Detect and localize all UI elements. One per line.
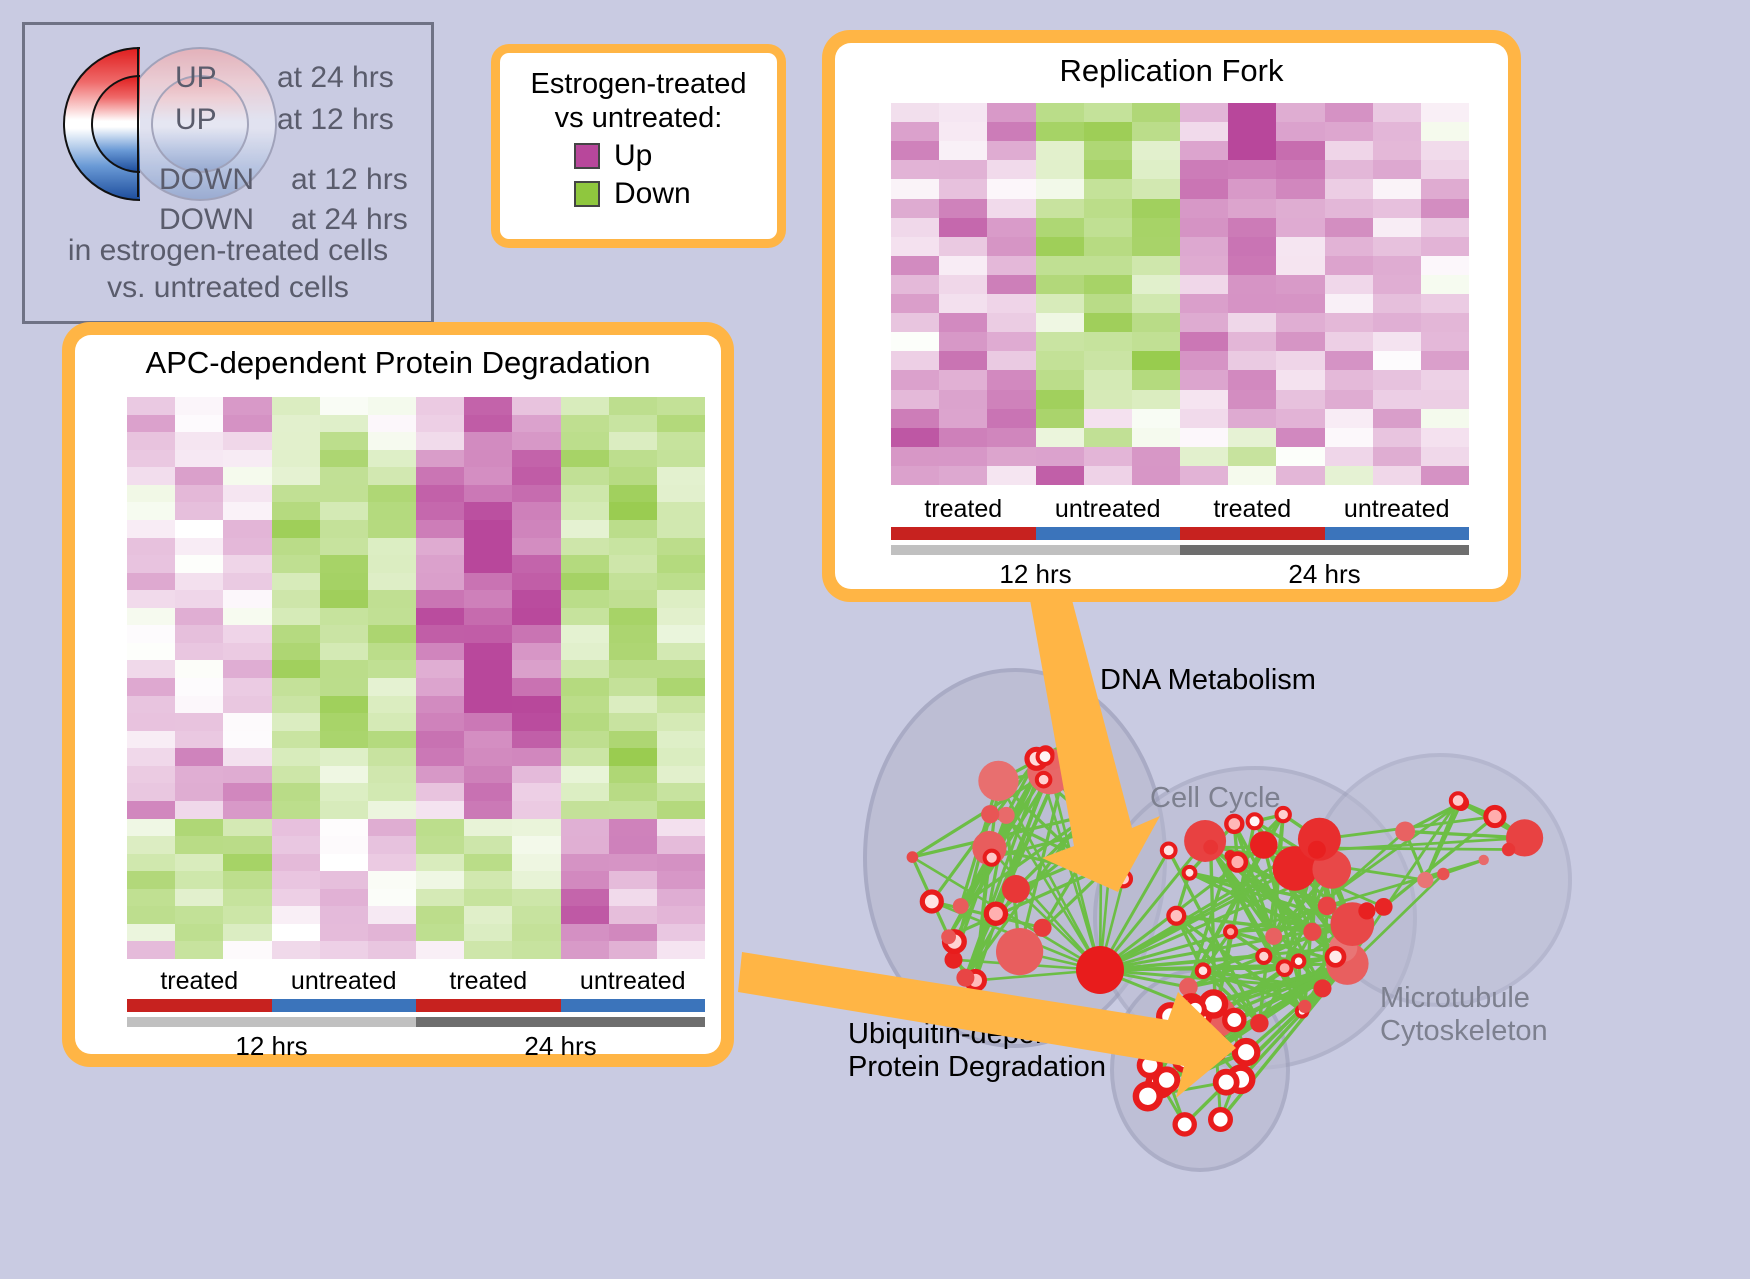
heatmap-cell bbox=[175, 415, 223, 433]
heatmap-cell bbox=[987, 256, 1035, 275]
network-node bbox=[1136, 1084, 1160, 1108]
heatmap-cell bbox=[320, 415, 368, 433]
heatmap-replication-fork bbox=[891, 103, 1469, 485]
cluster-label-dna-metabolism: DNA Metabolism bbox=[1100, 664, 1316, 697]
heatmap-cell bbox=[368, 643, 416, 661]
heatmap-cell bbox=[175, 766, 223, 784]
heatmap-cell bbox=[657, 696, 705, 714]
heatmap-cell bbox=[891, 141, 939, 160]
heatmap-cell bbox=[320, 924, 368, 942]
heatmap-cell bbox=[127, 906, 175, 924]
heatmap-cell bbox=[1228, 447, 1276, 466]
network-node bbox=[941, 929, 956, 944]
heatmap-cell bbox=[320, 819, 368, 837]
heatmap-cell bbox=[223, 643, 271, 661]
heatmap-cell bbox=[272, 573, 320, 591]
heatmap-cell bbox=[223, 502, 271, 520]
timepoint-label: 12 hrs bbox=[127, 1031, 416, 1062]
heatmap-cell bbox=[416, 397, 464, 415]
heatmap-cell bbox=[223, 538, 271, 556]
heatmap-cell bbox=[464, 678, 512, 696]
heatmap-cell bbox=[127, 573, 175, 591]
heatmap-cell bbox=[657, 783, 705, 801]
heatmap-cell bbox=[1421, 351, 1469, 370]
heatmap-cell bbox=[320, 889, 368, 907]
heatmap-cell bbox=[368, 941, 416, 959]
heatmap-cell bbox=[1132, 122, 1180, 141]
heatmap-cell bbox=[1036, 160, 1084, 179]
network-node bbox=[1314, 979, 1332, 997]
heatmap-cell bbox=[272, 924, 320, 942]
heatmap-cell bbox=[1228, 466, 1276, 485]
heatmap-cell bbox=[175, 555, 223, 573]
heatmap-cell bbox=[1180, 313, 1228, 332]
heatmap-cell bbox=[127, 696, 175, 714]
heatmap-cell bbox=[657, 538, 705, 556]
heatmap-cell bbox=[1228, 294, 1276, 313]
network-node bbox=[1175, 1049, 1196, 1070]
heatmap-cell bbox=[561, 783, 609, 801]
key-time-3: at 24 hrs bbox=[291, 203, 408, 237]
heatmap-cell bbox=[1228, 370, 1276, 389]
heatmap-cell bbox=[320, 608, 368, 626]
heatmap-cell bbox=[223, 941, 271, 959]
network-node bbox=[996, 928, 1043, 975]
heatmap-cell bbox=[1325, 466, 1373, 485]
heatmap-cell bbox=[657, 906, 705, 924]
heatmap-cell bbox=[320, 502, 368, 520]
heatmap-cell bbox=[127, 520, 175, 538]
network-node bbox=[1033, 919, 1051, 937]
heatmap-cell bbox=[1036, 275, 1084, 294]
heatmap-cell bbox=[1132, 141, 1180, 160]
heatmap-cell bbox=[175, 906, 223, 924]
heatmap-cell bbox=[368, 696, 416, 714]
heatmap-cell bbox=[1180, 390, 1228, 409]
network-node bbox=[1116, 872, 1131, 887]
heatmap-cell bbox=[891, 409, 939, 428]
heatmap-cell bbox=[223, 590, 271, 608]
heatmap-cell bbox=[657, 502, 705, 520]
heatmap-cell bbox=[464, 485, 512, 503]
heatmap-cell bbox=[368, 924, 416, 942]
heatmap-cell bbox=[1325, 237, 1373, 256]
heatmap-cell bbox=[512, 748, 560, 766]
heatmap-cell bbox=[987, 199, 1035, 218]
timepoint-bar-apc bbox=[127, 1017, 705, 1027]
network-node bbox=[1293, 955, 1305, 967]
heatmap-cell bbox=[609, 660, 657, 678]
heatmap-cell bbox=[320, 801, 368, 819]
heatmap-cell bbox=[1228, 122, 1276, 141]
heatmap-cell bbox=[1373, 275, 1421, 294]
network-node bbox=[1038, 749, 1053, 764]
heatmap-cell bbox=[609, 573, 657, 591]
heatmap-cell bbox=[127, 819, 175, 837]
heatmap-cell bbox=[464, 520, 512, 538]
heatmap-cell bbox=[272, 819, 320, 837]
heatmap-cell bbox=[127, 590, 175, 608]
heatmap-cell bbox=[416, 871, 464, 889]
heatmap-cell bbox=[1373, 256, 1421, 275]
heatmap-cell bbox=[320, 660, 368, 678]
heatmap-cell bbox=[1084, 332, 1132, 351]
network-node bbox=[1250, 1014, 1268, 1032]
network-node bbox=[953, 898, 969, 914]
heatmap-cell bbox=[1228, 275, 1276, 294]
heatmap-cell bbox=[1421, 103, 1469, 122]
heatmap-cell bbox=[1084, 466, 1132, 485]
network-node bbox=[1168, 908, 1184, 924]
heatmap-cell bbox=[1421, 466, 1469, 485]
heatmap-cell bbox=[272, 889, 320, 907]
heatmap-cell bbox=[1228, 160, 1276, 179]
heatmap-cell bbox=[1132, 370, 1180, 389]
heatmap-cell bbox=[1325, 390, 1373, 409]
caption-line-1: in estrogen-treated cells bbox=[25, 233, 431, 270]
legend-item-down: Down bbox=[574, 177, 765, 211]
heatmap-cell bbox=[416, 432, 464, 450]
heatmap-cell bbox=[561, 766, 609, 784]
condition-bar-segment bbox=[1036, 527, 1181, 540]
condition-label: untreated bbox=[561, 967, 706, 996]
heatmap-cell bbox=[1036, 390, 1084, 409]
heatmap-cell bbox=[127, 608, 175, 626]
heatmap-cell bbox=[657, 450, 705, 468]
condition-label: treated bbox=[891, 495, 1036, 524]
heatmap-cell bbox=[464, 941, 512, 959]
heatmap-cell bbox=[464, 538, 512, 556]
heatmap-cell bbox=[1132, 409, 1180, 428]
heatmap-cell bbox=[1373, 141, 1421, 160]
heatmap-cell bbox=[1325, 275, 1373, 294]
heatmap-cell bbox=[1228, 256, 1276, 275]
heatmap-cell bbox=[175, 713, 223, 731]
heatmap-cell bbox=[223, 450, 271, 468]
heatmap-cell bbox=[272, 906, 320, 924]
network-node bbox=[1211, 1110, 1231, 1130]
heatmap-cell bbox=[1084, 179, 1132, 198]
heatmap-cell bbox=[416, 766, 464, 784]
network-node bbox=[1225, 1010, 1244, 1029]
heatmap-cell bbox=[1325, 332, 1373, 351]
heatmap-cell bbox=[272, 643, 320, 661]
key-direction-3: DOWN bbox=[159, 203, 254, 237]
heatmap-cell bbox=[657, 590, 705, 608]
heatmap-cell bbox=[368, 678, 416, 696]
heatmap-cell bbox=[939, 199, 987, 218]
heatmap-cell bbox=[987, 218, 1035, 237]
heatmap-cell bbox=[1421, 332, 1469, 351]
heatmap-cell bbox=[1276, 237, 1324, 256]
heatmap-cell bbox=[1084, 103, 1132, 122]
network-node bbox=[981, 805, 999, 823]
up-swatch-icon bbox=[574, 143, 600, 169]
condition-label: treated bbox=[127, 967, 272, 996]
heatmap-cell bbox=[1325, 409, 1373, 428]
heatmap-cell bbox=[175, 573, 223, 591]
heatmap-cell bbox=[939, 237, 987, 256]
heatmap-cell bbox=[223, 696, 271, 714]
condition-label: untreated bbox=[1325, 495, 1470, 524]
heatmap-cell bbox=[1084, 218, 1132, 237]
heatmap-cell bbox=[368, 573, 416, 591]
heatmap-cell bbox=[939, 332, 987, 351]
heatmap-cell bbox=[175, 819, 223, 837]
heatmap-cell bbox=[1373, 218, 1421, 237]
heatmap-cell bbox=[561, 941, 609, 959]
heatmap-cell bbox=[223, 678, 271, 696]
heatmap-cell bbox=[368, 625, 416, 643]
network-node bbox=[1248, 814, 1262, 828]
network-node bbox=[1235, 1041, 1257, 1063]
heatmap-cell bbox=[987, 351, 1035, 370]
heatmap-cell bbox=[1132, 313, 1180, 332]
heatmap-cell bbox=[175, 678, 223, 696]
heatmap-cell bbox=[609, 397, 657, 415]
heatmap-cell bbox=[223, 415, 271, 433]
heatmap-cell bbox=[272, 467, 320, 485]
heatmap-cell bbox=[1325, 160, 1373, 179]
heatmap-cell bbox=[175, 696, 223, 714]
key-direction-0: UP bbox=[175, 61, 217, 95]
heatmap-cell bbox=[1084, 390, 1132, 409]
heatmap-cell bbox=[512, 713, 560, 731]
heatmap-cell bbox=[464, 819, 512, 837]
heatmap-cell bbox=[127, 397, 175, 415]
heatmap-cell bbox=[1276, 103, 1324, 122]
heatmap-cell bbox=[561, 485, 609, 503]
heatmap-cell bbox=[1036, 218, 1084, 237]
heatmap-cell bbox=[320, 555, 368, 573]
heatmap-cell bbox=[939, 179, 987, 198]
heatmap-cell bbox=[127, 415, 175, 433]
heatmap-cell bbox=[320, 643, 368, 661]
heatmap-cell bbox=[1325, 141, 1373, 160]
heatmap-cell bbox=[416, 941, 464, 959]
heatmap-cell bbox=[987, 428, 1035, 447]
heatmap-cell bbox=[1228, 237, 1276, 256]
heatmap-cell bbox=[609, 520, 657, 538]
condition-label: treated bbox=[1180, 495, 1325, 524]
network-node bbox=[1229, 854, 1246, 871]
heatmap-cell bbox=[416, 450, 464, 468]
timepoint-bar-segment bbox=[127, 1017, 416, 1027]
timepoint-label: 12 hrs bbox=[891, 559, 1180, 590]
heatmap-cell bbox=[127, 731, 175, 749]
heatmap-cell bbox=[416, 625, 464, 643]
heatmap-cell bbox=[987, 332, 1035, 351]
heatmap-cell bbox=[1036, 256, 1084, 275]
heatmap-cell bbox=[512, 783, 560, 801]
heatmap-cell bbox=[561, 924, 609, 942]
heatmap-cell bbox=[272, 415, 320, 433]
heatmap-cell bbox=[368, 450, 416, 468]
heatmap-cell bbox=[1421, 294, 1469, 313]
network-node bbox=[1002, 875, 1030, 903]
heatmap-cell bbox=[368, 432, 416, 450]
heatmap-cell bbox=[891, 390, 939, 409]
timepoint-bar-segment bbox=[416, 1017, 705, 1027]
heatmap-cell bbox=[368, 906, 416, 924]
heatmap-cell bbox=[175, 485, 223, 503]
legend-title-line-1: Estrogen-treated bbox=[512, 67, 765, 101]
heatmap-cell bbox=[561, 696, 609, 714]
network-node bbox=[1184, 820, 1226, 862]
heatmap-cell bbox=[609, 678, 657, 696]
heatmap-cell bbox=[416, 713, 464, 731]
key-direction-2: DOWN bbox=[159, 163, 254, 197]
heatmap-cell bbox=[464, 924, 512, 942]
heatmap-cell bbox=[464, 766, 512, 784]
heatmap-cell bbox=[512, 871, 560, 889]
heatmap-cell bbox=[320, 467, 368, 485]
heatmap-cell bbox=[609, 538, 657, 556]
heatmap-cell bbox=[561, 643, 609, 661]
heatmap-cell bbox=[416, 643, 464, 661]
network-node bbox=[1096, 778, 1115, 797]
condition-bar-segment bbox=[272, 999, 417, 1012]
heatmap-cell bbox=[1180, 179, 1228, 198]
network-node bbox=[1216, 1072, 1237, 1093]
figure-canvas: UP at 24 hrs UP at 12 hrs DOWN at 12 hrs… bbox=[0, 0, 1750, 1279]
condition-bar-segment bbox=[891, 527, 1036, 540]
heatmap-cell bbox=[223, 906, 271, 924]
heatmap-cell bbox=[1180, 141, 1228, 160]
heatmap-cell bbox=[1132, 390, 1180, 409]
heatmap-cell bbox=[1084, 351, 1132, 370]
heatmap-cell bbox=[416, 836, 464, 854]
panel-title-replication-fork: Replication Fork bbox=[835, 53, 1508, 89]
heatmap-cell bbox=[609, 906, 657, 924]
heatmap-cell bbox=[1036, 428, 1084, 447]
heatmap-cell bbox=[1084, 122, 1132, 141]
heatmap-cell bbox=[223, 889, 271, 907]
heatmap-cell bbox=[1276, 199, 1324, 218]
network-node bbox=[1037, 773, 1051, 787]
heatmap-cell bbox=[1084, 256, 1132, 275]
condition-bar-segment bbox=[1180, 527, 1325, 540]
heatmap-cell bbox=[512, 520, 560, 538]
panel-apc-degradation: APC-dependent Protein Degradation treate… bbox=[62, 322, 734, 1067]
heatmap-cell bbox=[368, 836, 416, 854]
heatmap-cell bbox=[1421, 179, 1469, 198]
heatmap-cell bbox=[1228, 428, 1276, 447]
heatmap-cell bbox=[1036, 466, 1084, 485]
heatmap-cell bbox=[127, 924, 175, 942]
heatmap-cell bbox=[561, 502, 609, 520]
heatmap-cell bbox=[891, 428, 939, 447]
heatmap-cell bbox=[127, 432, 175, 450]
heatmap-cell bbox=[1276, 428, 1324, 447]
heatmap-cell bbox=[609, 836, 657, 854]
heatmap-cell bbox=[1421, 275, 1469, 294]
heatmap-cell bbox=[1373, 179, 1421, 198]
heatmap-cell bbox=[320, 485, 368, 503]
network-node bbox=[1479, 855, 1489, 865]
heatmap-cell bbox=[272, 854, 320, 872]
heatmap-cell bbox=[1373, 466, 1421, 485]
heatmap-cell bbox=[1276, 351, 1324, 370]
heatmap-cell bbox=[609, 924, 657, 942]
heatmap-cell bbox=[416, 748, 464, 766]
heatmap-cell bbox=[464, 608, 512, 626]
heatmap-cell bbox=[1036, 447, 1084, 466]
heatmap-cell bbox=[1373, 447, 1421, 466]
heatmap-cell bbox=[464, 643, 512, 661]
heatmap-cell bbox=[657, 643, 705, 661]
heatmap-cell bbox=[127, 783, 175, 801]
heatmap-cell bbox=[891, 370, 939, 389]
heatmap-cell bbox=[609, 889, 657, 907]
heatmap-cell bbox=[657, 432, 705, 450]
heatmap-cell bbox=[223, 819, 271, 837]
heatmap-cell bbox=[416, 415, 464, 433]
condition-label: treated bbox=[416, 967, 561, 996]
heatmap-cell bbox=[609, 731, 657, 749]
heatmap-cell bbox=[416, 783, 464, 801]
heatmap-cell bbox=[1180, 294, 1228, 313]
heatmap-cell bbox=[987, 294, 1035, 313]
heatmap-cell bbox=[1421, 237, 1469, 256]
network-node bbox=[1395, 822, 1415, 842]
network-node bbox=[998, 807, 1015, 824]
heatmap-cell bbox=[609, 467, 657, 485]
heatmap-cell bbox=[512, 819, 560, 837]
heatmap-cell bbox=[1084, 199, 1132, 218]
timepoint-bar-replication-fork bbox=[891, 545, 1469, 555]
network-node bbox=[1327, 948, 1344, 965]
heatmap-cell bbox=[127, 660, 175, 678]
heatmap-cell bbox=[1180, 199, 1228, 218]
heatmap-cell bbox=[416, 590, 464, 608]
heatmap-cell bbox=[512, 731, 560, 749]
condition-labels-apc: treateduntreatedtreateduntreated bbox=[127, 967, 705, 996]
heatmap-cell bbox=[1276, 275, 1324, 294]
heatmap-cell bbox=[320, 678, 368, 696]
heatmap-cell bbox=[1325, 294, 1373, 313]
heatmap-cell bbox=[1036, 294, 1084, 313]
heatmap-cell bbox=[127, 678, 175, 696]
heatmap-cell bbox=[657, 625, 705, 643]
heatmap-cell bbox=[512, 766, 560, 784]
network-node bbox=[1175, 1115, 1194, 1134]
condition-bar-segment bbox=[561, 999, 706, 1012]
heatmap-cell bbox=[464, 801, 512, 819]
heatmap-cell bbox=[1421, 390, 1469, 409]
heatmap-cell bbox=[1276, 218, 1324, 237]
heatmap-cell bbox=[561, 538, 609, 556]
heatmap-cell bbox=[561, 590, 609, 608]
heatmap-cell bbox=[987, 370, 1035, 389]
heatmap-cell bbox=[987, 160, 1035, 179]
heatmap-cell bbox=[464, 415, 512, 433]
heatmap-cell bbox=[512, 432, 560, 450]
heatmap-cell bbox=[464, 871, 512, 889]
heatmap-cell bbox=[561, 819, 609, 837]
heatmap-cell bbox=[939, 370, 987, 389]
heatmap-cell bbox=[320, 573, 368, 591]
heatmap-cell bbox=[368, 467, 416, 485]
heatmap-cell bbox=[891, 199, 939, 218]
heatmap-cell bbox=[561, 871, 609, 889]
heatmap-cell bbox=[512, 696, 560, 714]
heatmap-cell bbox=[320, 941, 368, 959]
heatmap-cell bbox=[272, 766, 320, 784]
heatmap-cell bbox=[272, 713, 320, 731]
heatmap-cell bbox=[127, 625, 175, 643]
heatmap-cell bbox=[416, 924, 464, 942]
